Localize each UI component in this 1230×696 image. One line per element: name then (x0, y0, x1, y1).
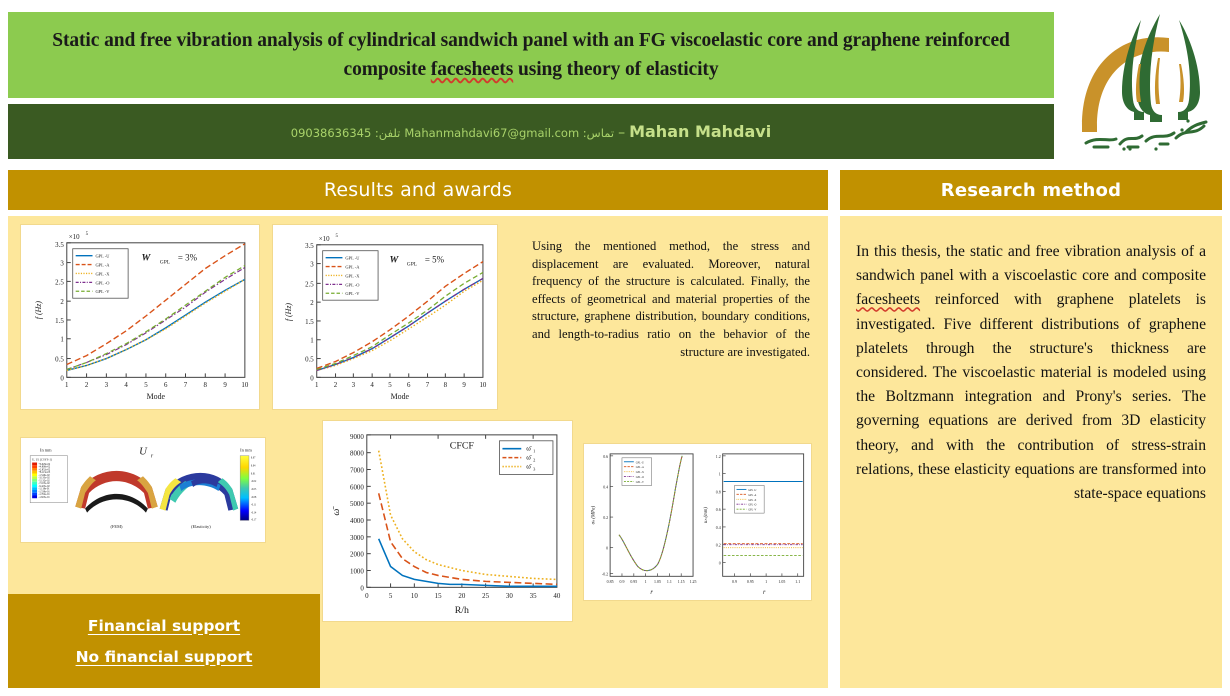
figure-cfcf: 010002000 300040005000 600070008000 9000… (322, 420, 573, 622)
svg-text:GPL -A: GPL -A (95, 263, 110, 268)
svg-text:8: 8 (204, 382, 208, 389)
svg-text:0.95: 0.95 (630, 579, 637, 584)
svg-text:GPL: GPL (407, 262, 417, 268)
method-spellcheck-word: facesheets (856, 291, 920, 308)
financial-support-heading: Financial support (88, 617, 240, 635)
svg-text:0.9: 0.9 (732, 579, 737, 584)
svg-text:1.05: 1.05 (654, 579, 661, 584)
svg-text:10: 10 (411, 593, 418, 600)
svg-text:1: 1 (65, 382, 69, 389)
fem-colorbar-label: In mm (40, 448, 52, 453)
sigma-legend: GPL -U GPL -A GPL -X GPL -O GPL -V (622, 458, 652, 486)
svg-text:5: 5 (389, 593, 393, 600)
svg-text:1.1: 1.1 (667, 579, 672, 584)
svg-text:9: 9 (462, 382, 466, 389)
svg-text:GPL -A: GPL -A (748, 494, 756, 497)
svg-text:4000: 4000 (350, 518, 364, 525)
fem-legend-values: +6.029e-02+4.800e-02 +2.852e-02+8.113e-0… (39, 463, 51, 499)
svg-text:3: 3 (352, 382, 356, 389)
svg-text:0.4: 0.4 (716, 525, 721, 530)
svg-text:0.6: 0.6 (716, 507, 721, 512)
figure-frequency-5pct: ×10 5 00.5 11.5 22.5 33.5 123 456 789 10 (272, 224, 498, 410)
financial-support-value: No financial support (76, 648, 253, 666)
svg-text:0.01: 0.01 (251, 472, 256, 475)
svg-text:GPL -X: GPL -X (345, 273, 360, 278)
y-axis-label: uₕ (mm) (704, 507, 709, 523)
svg-text:×10: ×10 (69, 234, 80, 241)
svg-text:GPL -V: GPL -V (636, 481, 644, 484)
title-text-part2: using theory of elasticity (513, 59, 718, 80)
chart-legend: GPL -U GPL -A GPL -X GPL -O GPL -V (73, 249, 128, 298)
svg-text:-0.2: -0.2 (602, 571, 608, 576)
svg-text:8: 8 (444, 382, 448, 389)
svg-text:20: 20 (458, 593, 465, 600)
y-axis-label: σₕ (MPa) (591, 505, 596, 524)
svg-text:0.95: 0.95 (747, 579, 754, 584)
section-header-method: Research method (840, 170, 1222, 210)
y-axis-label: f (Hz) (34, 301, 43, 320)
svg-text:0.6: 0.6 (603, 454, 608, 459)
svg-text:4: 4 (370, 382, 374, 389)
author-phone: تلفن: 09038636345 (291, 126, 401, 140)
author-email: تماس: Mahanmahdavi67@gmail.com (404, 126, 614, 140)
svg-text:0: 0 (60, 375, 64, 382)
svg-text:GPL -X: GPL -X (95, 271, 110, 276)
svg-text:-0.02: -0.02 (251, 480, 257, 483)
svg-text:1.25: 1.25 (690, 579, 697, 584)
svg-text:= 3%: = 3% (178, 253, 198, 263)
ur-legend: GPL -U GPL -A GPL -X GPL -O GPL -V (735, 485, 765, 513)
svg-text:0: 0 (310, 375, 314, 382)
svg-text:1.1: 1.1 (795, 579, 800, 584)
svg-text:-1.823e-01: -1.823e-01 (39, 496, 51, 499)
svg-text:2.5: 2.5 (305, 281, 314, 288)
y-axis-label: f (Hz) (284, 303, 293, 322)
svg-text:0: 0 (360, 585, 364, 592)
svg-text:0: 0 (365, 593, 369, 600)
svg-text:5: 5 (144, 382, 148, 389)
svg-text:-0.11: -0.11 (251, 504, 257, 507)
svg-text:GPL -U: GPL -U (95, 254, 110, 259)
section-header-results: Results and awards (8, 170, 828, 210)
author-contact-line: تلفن: 09038636345 تماس: Mahanmahdavi67@g… (291, 122, 771, 141)
svg-text:10: 10 (479, 382, 486, 389)
method-panel: In this thesis, the static and free vibr… (840, 216, 1222, 688)
svg-text:3: 3 (310, 262, 314, 269)
svg-text:4: 4 (124, 382, 128, 389)
section-title-results: Results and awards (324, 179, 512, 201)
author-separator-dash: – (618, 125, 625, 141)
svg-text:3000: 3000 (350, 535, 364, 542)
svg-text:40: 40 (553, 593, 560, 600)
svg-text:1: 1 (719, 472, 721, 477)
poster-header: Static and free vibration analysis of cy… (0, 0, 1230, 168)
svg-text:GPL -X: GPL -X (748, 499, 756, 502)
svg-text:0.85: 0.85 (607, 579, 614, 584)
svg-text:W: W (142, 253, 152, 264)
svg-text:1000: 1000 (350, 568, 364, 575)
svg-text:1: 1 (645, 579, 647, 584)
svg-text:3: 3 (60, 261, 64, 268)
svg-text:0.2: 0.2 (716, 543, 721, 548)
figure-stress-displacement: 0.60.4 0.20 -0.2 0.850.90.95 11.051.1 1.… (583, 443, 812, 601)
svg-text:W: W (390, 255, 400, 266)
svg-text:1.5: 1.5 (305, 319, 314, 326)
svg-text:GPL -U: GPL -U (748, 489, 756, 492)
svg-text:30: 30 (506, 593, 513, 600)
svg-text:9000: 9000 (350, 434, 364, 441)
svg-text:6: 6 (407, 382, 411, 389)
svg-text:3.5: 3.5 (305, 243, 314, 250)
svg-text:1.05: 1.05 (778, 579, 785, 584)
method-paragraph: In this thesis, the static and free vibr… (856, 240, 1206, 506)
financial-support-box: Financial support No financial support (8, 594, 320, 688)
svg-text:6000: 6000 (350, 484, 364, 491)
svg-text:1.2: 1.2 (716, 454, 721, 459)
svg-text:1: 1 (533, 449, 535, 454)
elasticity-label: (Elasticity) (191, 524, 211, 529)
svg-text:GPL -U: GPL -U (636, 461, 644, 464)
svg-text:GPL -X: GPL -X (636, 471, 644, 474)
method-text-part1: In this thesis, the static and free vibr… (856, 243, 1206, 284)
fem-label: (FEM) (111, 524, 124, 529)
svg-text:GPL -O: GPL -O (748, 504, 756, 507)
author-contact-banner: تلفن: 09038636345 تماس: Mahanmahdavi67@g… (8, 104, 1054, 159)
svg-text:9: 9 (223, 382, 227, 389)
svg-text:GPL -V: GPL -V (748, 509, 756, 512)
svg-text:35: 35 (530, 593, 537, 600)
svg-text:1.5: 1.5 (55, 318, 64, 325)
svg-text:GPL -O: GPL -O (95, 280, 110, 285)
svg-text:3.5: 3.5 (55, 242, 64, 249)
figure-contour-displacement: U r In mm U, U1 (CSYS-1) +6.029e-02+4.80… (20, 437, 266, 543)
svg-text:GPL -A: GPL -A (636, 466, 644, 469)
chart-legend: ω̄ 1 ω̄ 2 ω̄ 3 (499, 441, 552, 475)
svg-text:8000: 8000 (350, 451, 364, 458)
svg-text:0: 0 (606, 546, 608, 551)
svg-text:GPL: GPL (160, 260, 170, 266)
x-axis-label: Mode (147, 392, 166, 401)
svg-text:0.5: 0.5 (305, 357, 314, 364)
svg-text:15: 15 (435, 593, 442, 600)
svg-text:= 5%: = 5% (425, 255, 445, 265)
svg-text:10: 10 (241, 382, 248, 389)
abstract-paragraph: Using the mentioned method, the stress a… (532, 238, 810, 361)
svg-text:2: 2 (533, 458, 535, 463)
svg-text:1: 1 (765, 579, 767, 584)
svg-text:0.5: 0.5 (55, 357, 64, 364)
chart-title: CFCF (450, 441, 475, 452)
svg-text:-0.05: -0.05 (251, 488, 257, 491)
page-title: Static and free vibration analysis of cy… (39, 26, 1024, 84)
svg-text:2: 2 (60, 299, 64, 306)
svg-text:2: 2 (310, 300, 314, 307)
svg-text:3: 3 (105, 382, 109, 389)
author-name: Mahan Mahdavi (629, 122, 771, 141)
svg-text:-0.08: -0.08 (251, 496, 257, 499)
svg-text:7000: 7000 (350, 467, 364, 474)
svg-text:0: 0 (719, 560, 721, 565)
fem-legend-swatches (32, 463, 37, 499)
svg-text:25: 25 (482, 593, 489, 600)
svg-text:1.15: 1.15 (678, 579, 685, 584)
title-spellcheck-word: facesheets (431, 59, 513, 80)
chart-legend: GPL -U GPL -A GPL -X GPL -O GPL -V (323, 251, 378, 300)
title-banner: Static and free vibration analysis of cy… (8, 12, 1054, 98)
svg-text:1: 1 (310, 338, 314, 345)
svg-text:5000: 5000 (350, 501, 364, 508)
svg-text:×10: ×10 (319, 236, 330, 243)
svg-text:GPL -V: GPL -V (95, 289, 110, 294)
svg-text:2: 2 (85, 382, 89, 389)
svg-text:0.04: 0.04 (251, 464, 256, 467)
figure-frequency-3pct: ×10 5 00.5 11.5 22.5 33.5 123 456 789 10 (20, 224, 260, 410)
svg-text:GPL -O: GPL -O (345, 282, 360, 287)
svg-text:5: 5 (388, 382, 392, 389)
svg-text:0.4: 0.4 (603, 484, 608, 489)
svg-text:7: 7 (426, 382, 430, 389)
svg-text:GPL -V: GPL -V (345, 291, 360, 296)
university-logo (1064, 8, 1222, 163)
svg-text:0.9: 0.9 (620, 579, 625, 584)
section-title-method: Research method (941, 180, 1121, 201)
method-text-part2: reinforced with graphene platelets is in… (856, 291, 1206, 502)
svg-text:GPL -A: GPL -A (345, 265, 360, 270)
svg-text:2.5: 2.5 (55, 279, 64, 286)
svg-text:7: 7 (184, 382, 188, 389)
elasticity-colorbar (240, 456, 249, 521)
contour-title: U (139, 446, 148, 458)
svg-text:GPL -U: GPL -U (345, 256, 360, 261)
elasticity-colorbar-label: In mm (240, 448, 252, 453)
svg-text:2: 2 (334, 382, 338, 389)
svg-text:GPL -O: GPL -O (636, 476, 644, 479)
svg-text:0.8: 0.8 (716, 489, 721, 494)
svg-text:-0.14: -0.14 (251, 512, 257, 515)
svg-text:0.2: 0.2 (603, 515, 608, 520)
x-axis-label: R/h (455, 605, 469, 616)
svg-text:2000: 2000 (350, 552, 364, 559)
poster-root: Static and free vibration analysis of cy… (0, 0, 1230, 696)
svg-text:1: 1 (315, 382, 319, 389)
svg-text:-0.17: -0.17 (251, 518, 257, 521)
svg-text:6: 6 (164, 382, 168, 389)
svg-text:0.07: 0.07 (251, 457, 256, 460)
x-axis-label: Mode (391, 392, 410, 401)
svg-text:1: 1 (60, 337, 64, 344)
